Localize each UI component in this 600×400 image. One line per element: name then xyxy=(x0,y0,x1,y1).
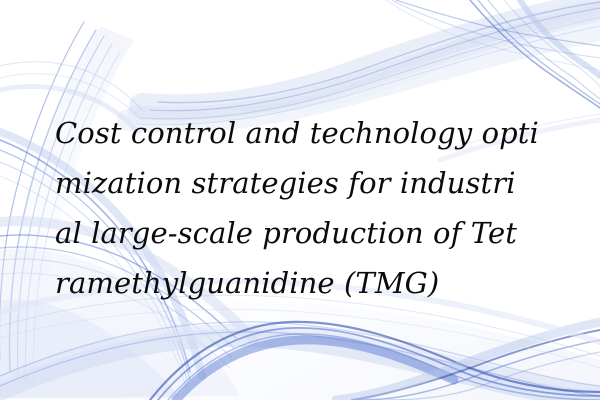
title-line-3: al large-scale production of Tet xyxy=(55,208,555,258)
title-line-4: ramethylguanidine (TMG) xyxy=(55,258,555,308)
page-title: Cost control and technology opti mizatio… xyxy=(55,108,555,308)
title-card: Cost control and technology opti mizatio… xyxy=(0,0,600,400)
title-line-1: Cost control and technology opti xyxy=(55,108,555,158)
title-line-2: mization strategies for industri xyxy=(55,158,555,208)
